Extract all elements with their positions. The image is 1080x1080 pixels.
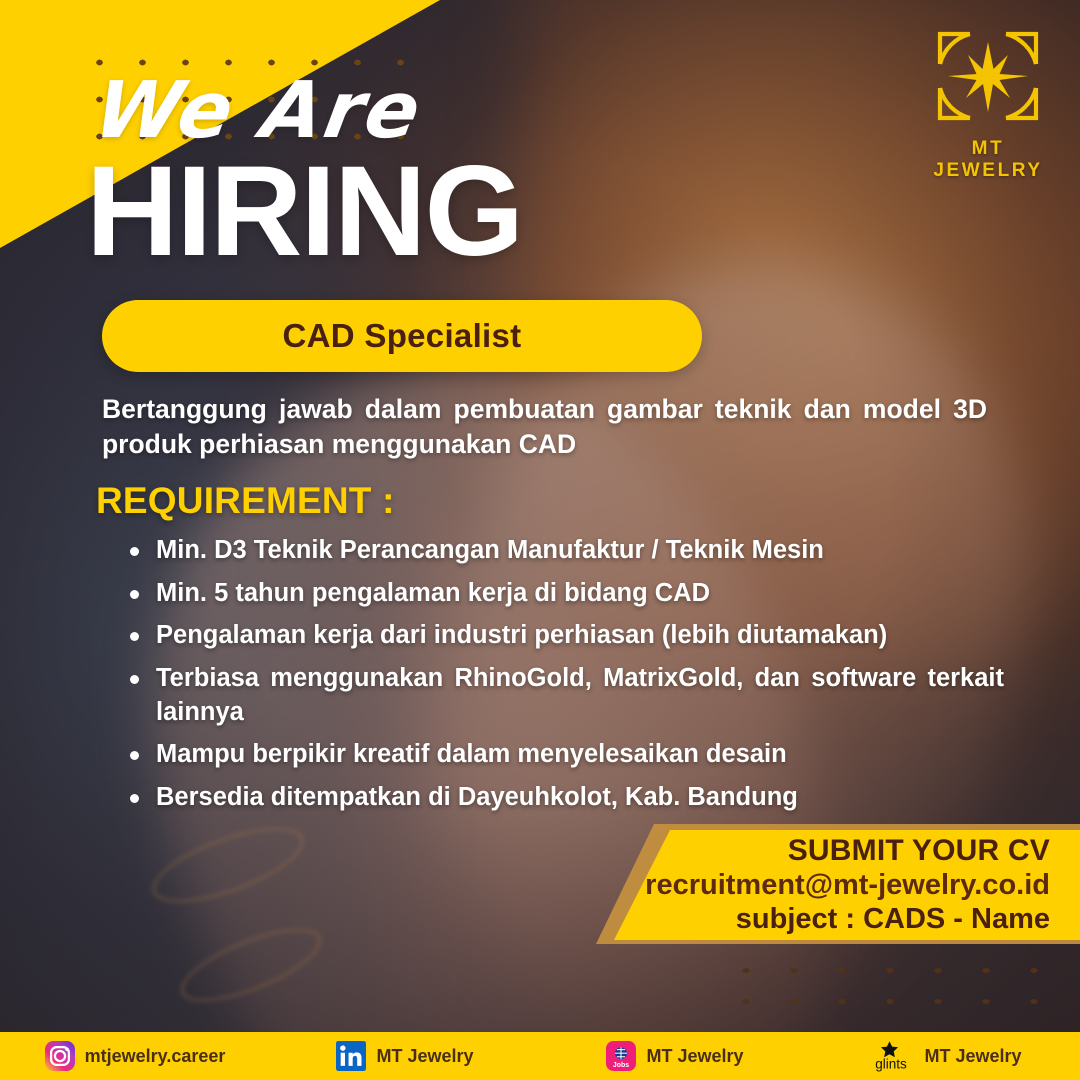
submit-cv-subject: subject : CADS - Name (614, 902, 1050, 936)
svg-text:Jobs: Jobs (613, 1062, 629, 1069)
list-item: Min. D3 Teknik Perancangan Manufaktur / … (124, 534, 1004, 568)
jobstreet-icon: Jobs (606, 1041, 636, 1071)
submit-cv-email[interactable]: recruitment@mt-jewelry.co.id (614, 868, 1050, 902)
submit-cv-banner: SUBMIT YOUR CV recruitment@mt-jewelry.co… (614, 830, 1080, 940)
linkedin-icon (336, 1041, 366, 1071)
svg-text:glints: glints (876, 1057, 908, 1072)
company-name: MT JEWELRY (918, 138, 1058, 182)
glints-icon: glints (868, 1040, 914, 1072)
job-poster: We Are HIRING MT JEWELRY CAD Specialist … (0, 0, 1080, 1080)
eyebrow-text: We Are (89, 72, 428, 150)
social-item-jobstreet[interactable]: Jobs MT Jewelry (540, 1041, 810, 1071)
list-item: Pengalaman kerja dari industri perhiasan… (124, 619, 1004, 653)
job-title-label: CAD Specialist (283, 317, 522, 355)
social-label: MT Jewelry (924, 1046, 1021, 1067)
social-item-instagram[interactable]: mtjewelry.career (0, 1041, 270, 1071)
social-label: MT Jewelry (376, 1046, 473, 1067)
social-item-linkedin[interactable]: MT Jewelry (270, 1041, 540, 1071)
requirements-heading: REQUIREMENT : (96, 480, 395, 522)
instagram-icon (45, 1041, 75, 1071)
list-item: Terbiasa menggunakan RhinoGold, MatrixGo… (124, 662, 1004, 729)
social-item-glints[interactable]: glints MT Jewelry (810, 1040, 1080, 1072)
social-label: MT Jewelry (646, 1046, 743, 1067)
dot-grid-bottom-decoration (722, 955, 1062, 1015)
list-item: Bersedia ditempatkan di Dayeuhkolot, Kab… (124, 781, 1004, 815)
job-description: Bertanggung jawab dalam pembuatan gambar… (102, 392, 987, 462)
list-item: Min. 5 tahun pengalaman kerja di bidang … (124, 577, 1004, 611)
list-item: Mampu berpikir kreatif dalam menyelesaik… (124, 738, 1004, 772)
starburst-square-logo-icon (924, 22, 1052, 134)
social-footer-bar: mtjewelry.career MT Jewelry (0, 1032, 1080, 1080)
job-title-badge: CAD Specialist (102, 300, 702, 372)
company-logo: MT JEWELRY (918, 22, 1058, 182)
social-label: mtjewelry.career (85, 1046, 226, 1067)
submit-cv-title: SUBMIT YOUR CV (614, 834, 1050, 868)
requirements-list: Min. D3 Teknik Perancangan Manufaktur / … (124, 534, 1004, 824)
page-title: HIRING (86, 148, 522, 276)
